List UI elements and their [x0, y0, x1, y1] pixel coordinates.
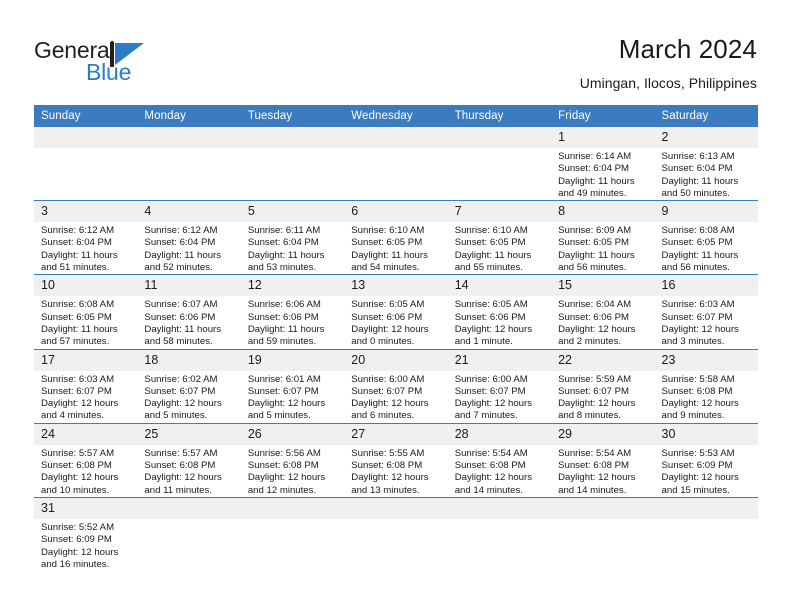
- calendar-week-row: 24Sunrise: 5:57 AMSunset: 6:08 PMDayligh…: [34, 423, 758, 497]
- day-sunrise-text: Sunrise: 6:00 AM: [351, 374, 441, 386]
- day-daylight1-text: Daylight: 12 hours: [144, 398, 234, 410]
- calendar-week-row: 17Sunrise: 6:03 AMSunset: 6:07 PMDayligh…: [34, 349, 758, 423]
- day-sun-info: Sunrise: 5:58 AMSunset: 6:08 PMDaylight:…: [655, 371, 758, 423]
- calendar-day-cell[interactable]: 10Sunrise: 6:08 AMSunset: 6:05 PMDayligh…: [34, 275, 137, 349]
- calendar-day-cell[interactable]: 23Sunrise: 5:58 AMSunset: 6:08 PMDayligh…: [655, 349, 758, 423]
- day-sun-info: Sunrise: 6:07 AMSunset: 6:06 PMDaylight:…: [137, 296, 240, 348]
- calendar-day-cell-empty: [34, 127, 137, 201]
- day-sunrise-text: Sunrise: 6:06 AM: [248, 299, 338, 311]
- day-daylight1-text: Daylight: 12 hours: [41, 472, 131, 484]
- calendar-day-cell[interactable]: 24Sunrise: 5:57 AMSunset: 6:08 PMDayligh…: [34, 423, 137, 497]
- day-sunset-text: Sunset: 6:04 PM: [248, 237, 338, 249]
- calendar-day-cell[interactable]: 16Sunrise: 6:03 AMSunset: 6:07 PMDayligh…: [655, 275, 758, 349]
- day-sunrise-text: Sunrise: 6:01 AM: [248, 374, 338, 386]
- day-sunset-text: Sunset: 6:04 PM: [144, 237, 234, 249]
- day-sun-info: Sunrise: 6:06 AMSunset: 6:06 PMDaylight:…: [241, 296, 344, 348]
- weekday-header-monday: Monday: [137, 105, 240, 127]
- day-daylight2-text: and 55 minutes.: [455, 262, 545, 274]
- day-number: [344, 498, 447, 519]
- calendar-day-cell[interactable]: 18Sunrise: 6:02 AMSunset: 6:07 PMDayligh…: [137, 349, 240, 423]
- calendar-day-cell[interactable]: 7Sunrise: 6:10 AMSunset: 6:05 PMDaylight…: [448, 201, 551, 275]
- calendar-page: General Blue March 2024 Umingan, Ilocos,…: [0, 0, 792, 612]
- day-sun-info: Sunrise: 5:54 AMSunset: 6:08 PMDaylight:…: [448, 445, 551, 497]
- day-sun-info: Sunrise: 6:12 AMSunset: 6:04 PMDaylight:…: [34, 222, 137, 274]
- day-sun-info: Sunrise: 5:55 AMSunset: 6:08 PMDaylight:…: [344, 445, 447, 497]
- day-sun-info: Sunrise: 5:56 AMSunset: 6:08 PMDaylight:…: [241, 445, 344, 497]
- day-number: 28: [448, 424, 551, 445]
- day-sun-info: Sunrise: 6:00 AMSunset: 6:07 PMDaylight:…: [344, 371, 447, 423]
- calendar-week-row: 31Sunrise: 5:52 AMSunset: 6:09 PMDayligh…: [34, 497, 758, 571]
- day-number: 1: [551, 127, 654, 148]
- day-sunrise-text: Sunrise: 6:13 AM: [662, 151, 752, 163]
- day-number: 22: [551, 350, 654, 371]
- calendar-day-cell-empty: [344, 127, 447, 201]
- calendar-day-cell[interactable]: 28Sunrise: 5:54 AMSunset: 6:08 PMDayligh…: [448, 423, 551, 497]
- day-daylight1-text: Daylight: 11 hours: [248, 324, 338, 336]
- day-daylight1-text: Daylight: 11 hours: [455, 250, 545, 262]
- day-sunrise-text: Sunrise: 6:02 AM: [144, 374, 234, 386]
- day-number: 7: [448, 201, 551, 222]
- calendar-day-cell[interactable]: 27Sunrise: 5:55 AMSunset: 6:08 PMDayligh…: [344, 423, 447, 497]
- weekday-header-thursday: Thursday: [448, 105, 551, 127]
- day-daylight2-text: and 3 minutes.: [662, 336, 752, 348]
- day-daylight2-text: and 53 minutes.: [248, 262, 338, 274]
- day-number: 10: [34, 275, 137, 296]
- day-number: 19: [241, 350, 344, 371]
- day-sunset-text: Sunset: 6:07 PM: [144, 386, 234, 398]
- day-sunset-text: Sunset: 6:07 PM: [662, 312, 752, 324]
- day-daylight2-text: and 58 minutes.: [144, 336, 234, 348]
- day-daylight1-text: Daylight: 11 hours: [558, 250, 648, 262]
- day-daylight2-text: and 56 minutes.: [558, 262, 648, 274]
- calendar-day-cell[interactable]: 30Sunrise: 5:53 AMSunset: 6:09 PMDayligh…: [655, 423, 758, 497]
- calendar-week-row: 10Sunrise: 6:08 AMSunset: 6:05 PMDayligh…: [34, 275, 758, 349]
- weekday-header-tuesday: Tuesday: [241, 105, 344, 127]
- day-daylight1-text: Daylight: 12 hours: [351, 324, 441, 336]
- day-daylight1-text: Daylight: 12 hours: [558, 324, 648, 336]
- day-daylight1-text: Daylight: 11 hours: [351, 250, 441, 262]
- day-sun-info: Sunrise: 6:11 AMSunset: 6:04 PMDaylight:…: [241, 222, 344, 274]
- day-number: 4: [137, 201, 240, 222]
- day-daylight1-text: Daylight: 12 hours: [248, 472, 338, 484]
- day-daylight1-text: Daylight: 11 hours: [558, 176, 648, 188]
- weekday-header-wednesday: Wednesday: [344, 105, 447, 127]
- day-sunset-text: Sunset: 6:06 PM: [144, 312, 234, 324]
- day-sunrise-text: Sunrise: 5:53 AM: [662, 448, 752, 460]
- calendar-day-cell[interactable]: 6Sunrise: 6:10 AMSunset: 6:05 PMDaylight…: [344, 201, 447, 275]
- day-daylight2-text: and 15 minutes.: [662, 485, 752, 497]
- calendar-week-row: 1Sunrise: 6:14 AMSunset: 6:04 PMDaylight…: [34, 127, 758, 201]
- day-daylight2-text: and 2 minutes.: [558, 336, 648, 348]
- day-sunrise-text: Sunrise: 6:04 AM: [558, 299, 648, 311]
- day-sunset-text: Sunset: 6:07 PM: [248, 386, 338, 398]
- day-sunset-text: Sunset: 6:08 PM: [558, 460, 648, 472]
- day-sunrise-text: Sunrise: 6:12 AM: [144, 225, 234, 237]
- day-sunset-text: Sunset: 6:07 PM: [351, 386, 441, 398]
- day-daylight2-text: and 14 minutes.: [455, 485, 545, 497]
- day-daylight1-text: Daylight: 12 hours: [662, 398, 752, 410]
- day-daylight2-text: and 14 minutes.: [558, 485, 648, 497]
- day-daylight2-text: and 10 minutes.: [41, 485, 131, 497]
- day-daylight2-text: and 59 minutes.: [248, 336, 338, 348]
- day-sun-info: Sunrise: 5:54 AMSunset: 6:08 PMDaylight:…: [551, 445, 654, 497]
- calendar-day-cell-empty: [137, 127, 240, 201]
- day-daylight2-text: and 1 minute.: [455, 336, 545, 348]
- day-sunset-text: Sunset: 6:05 PM: [41, 312, 131, 324]
- day-sunrise-text: Sunrise: 6:05 AM: [455, 299, 545, 311]
- day-sunrise-text: Sunrise: 6:08 AM: [41, 299, 131, 311]
- day-number: [137, 127, 240, 148]
- day-sunset-text: Sunset: 6:06 PM: [248, 312, 338, 324]
- day-daylight1-text: Daylight: 12 hours: [455, 472, 545, 484]
- day-daylight2-text: and 52 minutes.: [144, 262, 234, 274]
- calendar-day-cell[interactable]: 3Sunrise: 6:12 AMSunset: 6:04 PMDaylight…: [34, 201, 137, 275]
- day-daylight2-text: and 6 minutes.: [351, 410, 441, 422]
- day-number: [241, 127, 344, 148]
- day-number: 17: [34, 350, 137, 371]
- day-sunrise-text: Sunrise: 6:10 AM: [351, 225, 441, 237]
- day-number: [344, 127, 447, 148]
- day-daylight1-text: Daylight: 11 hours: [41, 250, 131, 262]
- day-sun-info: Sunrise: 6:05 AMSunset: 6:06 PMDaylight:…: [344, 296, 447, 348]
- calendar-day-cell[interactable]: 5Sunrise: 6:11 AMSunset: 6:04 PMDaylight…: [241, 201, 344, 275]
- day-sunset-text: Sunset: 6:07 PM: [41, 386, 131, 398]
- day-sun-info: Sunrise: 6:08 AMSunset: 6:05 PMDaylight:…: [34, 296, 137, 348]
- day-number: 26: [241, 424, 344, 445]
- day-sunrise-text: Sunrise: 6:00 AM: [455, 374, 545, 386]
- day-sun-info: Sunrise: 6:10 AMSunset: 6:05 PMDaylight:…: [344, 222, 447, 274]
- day-number: 5: [241, 201, 344, 222]
- day-sun-info: Sunrise: 5:57 AMSunset: 6:08 PMDaylight:…: [34, 445, 137, 497]
- day-number: [655, 498, 758, 519]
- day-sunrise-text: Sunrise: 6:12 AM: [41, 225, 131, 237]
- calendar-day-cell-empty: [137, 497, 240, 571]
- day-sunrise-text: Sunrise: 5:54 AM: [558, 448, 648, 460]
- day-daylight2-text: and 11 minutes.: [144, 485, 234, 497]
- day-sunset-text: Sunset: 6:08 PM: [455, 460, 545, 472]
- calendar-day-cell[interactable]: 1Sunrise: 6:14 AMSunset: 6:04 PMDaylight…: [551, 127, 654, 201]
- day-daylight1-text: Daylight: 12 hours: [351, 398, 441, 410]
- day-daylight2-text: and 9 minutes.: [662, 410, 752, 422]
- day-daylight1-text: Daylight: 12 hours: [144, 472, 234, 484]
- day-daylight2-text: and 51 minutes.: [41, 262, 131, 274]
- calendar-day-cell-empty: [655, 497, 758, 571]
- calendar-day-cell[interactable]: 21Sunrise: 6:00 AMSunset: 6:07 PMDayligh…: [448, 349, 551, 423]
- calendar-day-cell-empty: [551, 497, 654, 571]
- day-daylight1-text: Daylight: 12 hours: [455, 324, 545, 336]
- day-sun-info: Sunrise: 6:03 AMSunset: 6:07 PMDaylight:…: [655, 296, 758, 348]
- day-daylight1-text: Daylight: 11 hours: [662, 176, 752, 188]
- weekday-header-saturday: Saturday: [655, 105, 758, 127]
- day-sun-info: Sunrise: 6:13 AMSunset: 6:04 PMDaylight:…: [655, 148, 758, 200]
- calendar-day-cell-empty: [448, 497, 551, 571]
- day-sun-info: Sunrise: 6:10 AMSunset: 6:05 PMDaylight:…: [448, 222, 551, 274]
- calendar-day-cell[interactable]: 11Sunrise: 6:07 AMSunset: 6:06 PMDayligh…: [137, 275, 240, 349]
- day-daylight2-text: and 7 minutes.: [455, 410, 545, 422]
- day-sunset-text: Sunset: 6:05 PM: [662, 237, 752, 249]
- day-number: 14: [448, 275, 551, 296]
- day-daylight2-text: and 12 minutes.: [248, 485, 338, 497]
- calendar-day-cell-empty: [448, 127, 551, 201]
- day-number: 11: [137, 275, 240, 296]
- title-block: March 2024 Umingan, Ilocos, Philippines: [580, 33, 757, 93]
- day-sunrise-text: Sunrise: 6:07 AM: [144, 299, 234, 311]
- day-daylight1-text: Daylight: 11 hours: [144, 250, 234, 262]
- page-subtitle: Umingan, Ilocos, Philippines: [580, 73, 757, 93]
- day-sunrise-text: Sunrise: 6:09 AM: [558, 225, 648, 237]
- day-daylight1-text: Daylight: 12 hours: [558, 472, 648, 484]
- day-number: [448, 127, 551, 148]
- calendar-day-cell[interactable]: 9Sunrise: 6:08 AMSunset: 6:05 PMDaylight…: [655, 201, 758, 275]
- day-daylight1-text: Daylight: 12 hours: [351, 472, 441, 484]
- day-sun-info: Sunrise: 5:52 AMSunset: 6:09 PMDaylight:…: [34, 519, 137, 571]
- general-blue-logo[interactable]: General Blue: [34, 37, 214, 93]
- day-sun-info: Sunrise: 5:57 AMSunset: 6:08 PMDaylight:…: [137, 445, 240, 497]
- day-number: [551, 498, 654, 519]
- calendar-day-cell[interactable]: 29Sunrise: 5:54 AMSunset: 6:08 PMDayligh…: [551, 423, 654, 497]
- day-sunset-text: Sunset: 6:04 PM: [41, 237, 131, 249]
- day-number: [137, 498, 240, 519]
- day-number: 18: [137, 350, 240, 371]
- calendar-day-cell[interactable]: 12Sunrise: 6:06 AMSunset: 6:06 PMDayligh…: [241, 275, 344, 349]
- day-sun-info: Sunrise: 5:59 AMSunset: 6:07 PMDaylight:…: [551, 371, 654, 423]
- day-sunset-text: Sunset: 6:08 PM: [248, 460, 338, 472]
- calendar-header-row: Sunday Monday Tuesday Wednesday Thursday…: [34, 105, 758, 127]
- day-sunset-text: Sunset: 6:05 PM: [558, 237, 648, 249]
- day-daylight1-text: Daylight: 12 hours: [248, 398, 338, 410]
- day-sunrise-text: Sunrise: 5:52 AM: [41, 522, 131, 534]
- day-sunset-text: Sunset: 6:04 PM: [662, 163, 752, 175]
- day-number: 3: [34, 201, 137, 222]
- day-sun-info: Sunrise: 6:14 AMSunset: 6:04 PMDaylight:…: [551, 148, 654, 200]
- day-sunset-text: Sunset: 6:06 PM: [558, 312, 648, 324]
- calendar-body: 1Sunrise: 6:14 AMSunset: 6:04 PMDaylight…: [34, 127, 758, 571]
- day-number: 25: [137, 424, 240, 445]
- day-sun-info: Sunrise: 6:03 AMSunset: 6:07 PMDaylight:…: [34, 371, 137, 423]
- day-daylight1-text: Daylight: 12 hours: [455, 398, 545, 410]
- day-sunrise-text: Sunrise: 5:58 AM: [662, 374, 752, 386]
- calendar-day-cell[interactable]: 17Sunrise: 6:03 AMSunset: 6:07 PMDayligh…: [34, 349, 137, 423]
- day-sunset-text: Sunset: 6:07 PM: [558, 386, 648, 398]
- day-sunrise-text: Sunrise: 6:11 AM: [248, 225, 338, 237]
- day-sunset-text: Sunset: 6:04 PM: [558, 163, 648, 175]
- day-number: 27: [344, 424, 447, 445]
- day-number: 23: [655, 350, 758, 371]
- day-sunset-text: Sunset: 6:08 PM: [662, 386, 752, 398]
- day-sunset-text: Sunset: 6:06 PM: [351, 312, 441, 324]
- day-daylight1-text: Daylight: 12 hours: [662, 472, 752, 484]
- calendar-day-cell[interactable]: 15Sunrise: 6:04 AMSunset: 6:06 PMDayligh…: [551, 275, 654, 349]
- day-daylight2-text: and 5 minutes.: [248, 410, 338, 422]
- calendar-day-cell[interactable]: 8Sunrise: 6:09 AMSunset: 6:05 PMDaylight…: [551, 201, 654, 275]
- day-number: 15: [551, 275, 654, 296]
- day-sunrise-text: Sunrise: 6:10 AM: [455, 225, 545, 237]
- day-sunrise-text: Sunrise: 5:55 AM: [351, 448, 441, 460]
- page-title: March 2024: [580, 33, 757, 65]
- day-sunrise-text: Sunrise: 5:54 AM: [455, 448, 545, 460]
- weekday-header-friday: Friday: [551, 105, 654, 127]
- day-number: 16: [655, 275, 758, 296]
- day-sunset-text: Sunset: 6:05 PM: [455, 237, 545, 249]
- calendar-day-cell[interactable]: 13Sunrise: 6:05 AMSunset: 6:06 PMDayligh…: [344, 275, 447, 349]
- page-header: General Blue March 2024 Umingan, Ilocos,…: [0, 0, 792, 104]
- day-daylight2-text: and 54 minutes.: [351, 262, 441, 274]
- day-sunset-text: Sunset: 6:09 PM: [41, 534, 131, 546]
- day-sunrise-text: Sunrise: 6:03 AM: [662, 299, 752, 311]
- calendar-day-cell[interactable]: 4Sunrise: 6:12 AMSunset: 6:04 PMDaylight…: [137, 201, 240, 275]
- day-sunrise-text: Sunrise: 6:14 AM: [558, 151, 648, 163]
- day-sunrise-text: Sunrise: 5:56 AM: [248, 448, 338, 460]
- day-number: 12: [241, 275, 344, 296]
- calendar-day-cell[interactable]: 20Sunrise: 6:00 AMSunset: 6:07 PMDayligh…: [344, 349, 447, 423]
- day-daylight2-text: and 8 minutes.: [558, 410, 648, 422]
- weekday-header-sunday: Sunday: [34, 105, 137, 127]
- calendar-week-row: 3Sunrise: 6:12 AMSunset: 6:04 PMDaylight…: [34, 201, 758, 275]
- day-number: 13: [344, 275, 447, 296]
- day-daylight2-text: and 57 minutes.: [41, 336, 131, 348]
- day-number: 8: [551, 201, 654, 222]
- day-sunset-text: Sunset: 6:08 PM: [41, 460, 131, 472]
- day-daylight2-text: and 0 minutes.: [351, 336, 441, 348]
- day-number: 20: [344, 350, 447, 371]
- day-daylight1-text: Daylight: 11 hours: [41, 324, 131, 336]
- day-number: [448, 498, 551, 519]
- day-daylight1-text: Daylight: 12 hours: [558, 398, 648, 410]
- day-sunset-text: Sunset: 6:08 PM: [351, 460, 441, 472]
- day-sunset-text: Sunset: 6:06 PM: [455, 312, 545, 324]
- calendar-day-cell[interactable]: 14Sunrise: 6:05 AMSunset: 6:06 PMDayligh…: [448, 275, 551, 349]
- day-sun-info: Sunrise: 6:02 AMSunset: 6:07 PMDaylight:…: [137, 371, 240, 423]
- day-number: 31: [34, 498, 137, 519]
- day-daylight2-text: and 49 minutes.: [558, 188, 648, 200]
- day-daylight1-text: Daylight: 12 hours: [41, 547, 131, 559]
- day-number: 2: [655, 127, 758, 148]
- day-sunrise-text: Sunrise: 5:59 AM: [558, 374, 648, 386]
- day-daylight1-text: Daylight: 12 hours: [41, 398, 131, 410]
- day-sunset-text: Sunset: 6:09 PM: [662, 460, 752, 472]
- day-sunrise-text: Sunrise: 6:05 AM: [351, 299, 441, 311]
- day-daylight1-text: Daylight: 11 hours: [144, 324, 234, 336]
- day-sun-info: Sunrise: 6:05 AMSunset: 6:06 PMDaylight:…: [448, 296, 551, 348]
- day-number: [34, 127, 137, 148]
- day-sun-info: Sunrise: 6:09 AMSunset: 6:05 PMDaylight:…: [551, 222, 654, 274]
- calendar-table: Sunday Monday Tuesday Wednesday Thursday…: [34, 105, 758, 571]
- day-number: 6: [344, 201, 447, 222]
- day-daylight2-text: and 56 minutes.: [662, 262, 752, 274]
- calendar-day-cell-empty: [241, 127, 344, 201]
- day-sunrise-text: Sunrise: 5:57 AM: [144, 448, 234, 460]
- day-sunset-text: Sunset: 6:07 PM: [455, 386, 545, 398]
- day-daylight2-text: and 5 minutes.: [144, 410, 234, 422]
- day-sun-info: Sunrise: 6:01 AMSunset: 6:07 PMDaylight:…: [241, 371, 344, 423]
- calendar-day-cell[interactable]: 22Sunrise: 5:59 AMSunset: 6:07 PMDayligh…: [551, 349, 654, 423]
- calendar-day-cell[interactable]: 26Sunrise: 5:56 AMSunset: 6:08 PMDayligh…: [241, 423, 344, 497]
- day-sunrise-text: Sunrise: 5:57 AM: [41, 448, 131, 460]
- day-sunrise-text: Sunrise: 6:03 AM: [41, 374, 131, 386]
- day-daylight2-text: and 50 minutes.: [662, 188, 752, 200]
- day-number: [241, 498, 344, 519]
- calendar-day-cell-empty: [344, 497, 447, 571]
- day-sunset-text: Sunset: 6:08 PM: [144, 460, 234, 472]
- day-number: 21: [448, 350, 551, 371]
- day-sun-info: Sunrise: 6:00 AMSunset: 6:07 PMDaylight:…: [448, 371, 551, 423]
- day-number: 30: [655, 424, 758, 445]
- day-daylight1-text: Daylight: 11 hours: [248, 250, 338, 262]
- day-daylight1-text: Daylight: 12 hours: [662, 324, 752, 336]
- calendar-day-cell[interactable]: 2Sunrise: 6:13 AMSunset: 6:04 PMDaylight…: [655, 127, 758, 201]
- day-number: 24: [34, 424, 137, 445]
- day-number: 9: [655, 201, 758, 222]
- calendar-day-cell[interactable]: 19Sunrise: 6:01 AMSunset: 6:07 PMDayligh…: [241, 349, 344, 423]
- calendar-day-cell-empty: [241, 497, 344, 571]
- day-sun-info: Sunrise: 6:04 AMSunset: 6:06 PMDaylight:…: [551, 296, 654, 348]
- day-sun-info: Sunrise: 6:12 AMSunset: 6:04 PMDaylight:…: [137, 222, 240, 274]
- day-daylight2-text: and 13 minutes.: [351, 485, 441, 497]
- day-sun-info: Sunrise: 5:53 AMSunset: 6:09 PMDaylight:…: [655, 445, 758, 497]
- day-daylight1-text: Daylight: 11 hours: [662, 250, 752, 262]
- calendar-day-cell[interactable]: 25Sunrise: 5:57 AMSunset: 6:08 PMDayligh…: [137, 423, 240, 497]
- logo-text-blue: Blue: [86, 59, 131, 85]
- day-sunset-text: Sunset: 6:05 PM: [351, 237, 441, 249]
- day-sunrise-text: Sunrise: 6:08 AM: [662, 225, 752, 237]
- calendar-day-cell[interactable]: 31Sunrise: 5:52 AMSunset: 6:09 PMDayligh…: [34, 497, 137, 571]
- day-sun-info: Sunrise: 6:08 AMSunset: 6:05 PMDaylight:…: [655, 222, 758, 274]
- day-daylight2-text: and 16 minutes.: [41, 559, 131, 571]
- day-number: 29: [551, 424, 654, 445]
- day-daylight2-text: and 4 minutes.: [41, 410, 131, 422]
